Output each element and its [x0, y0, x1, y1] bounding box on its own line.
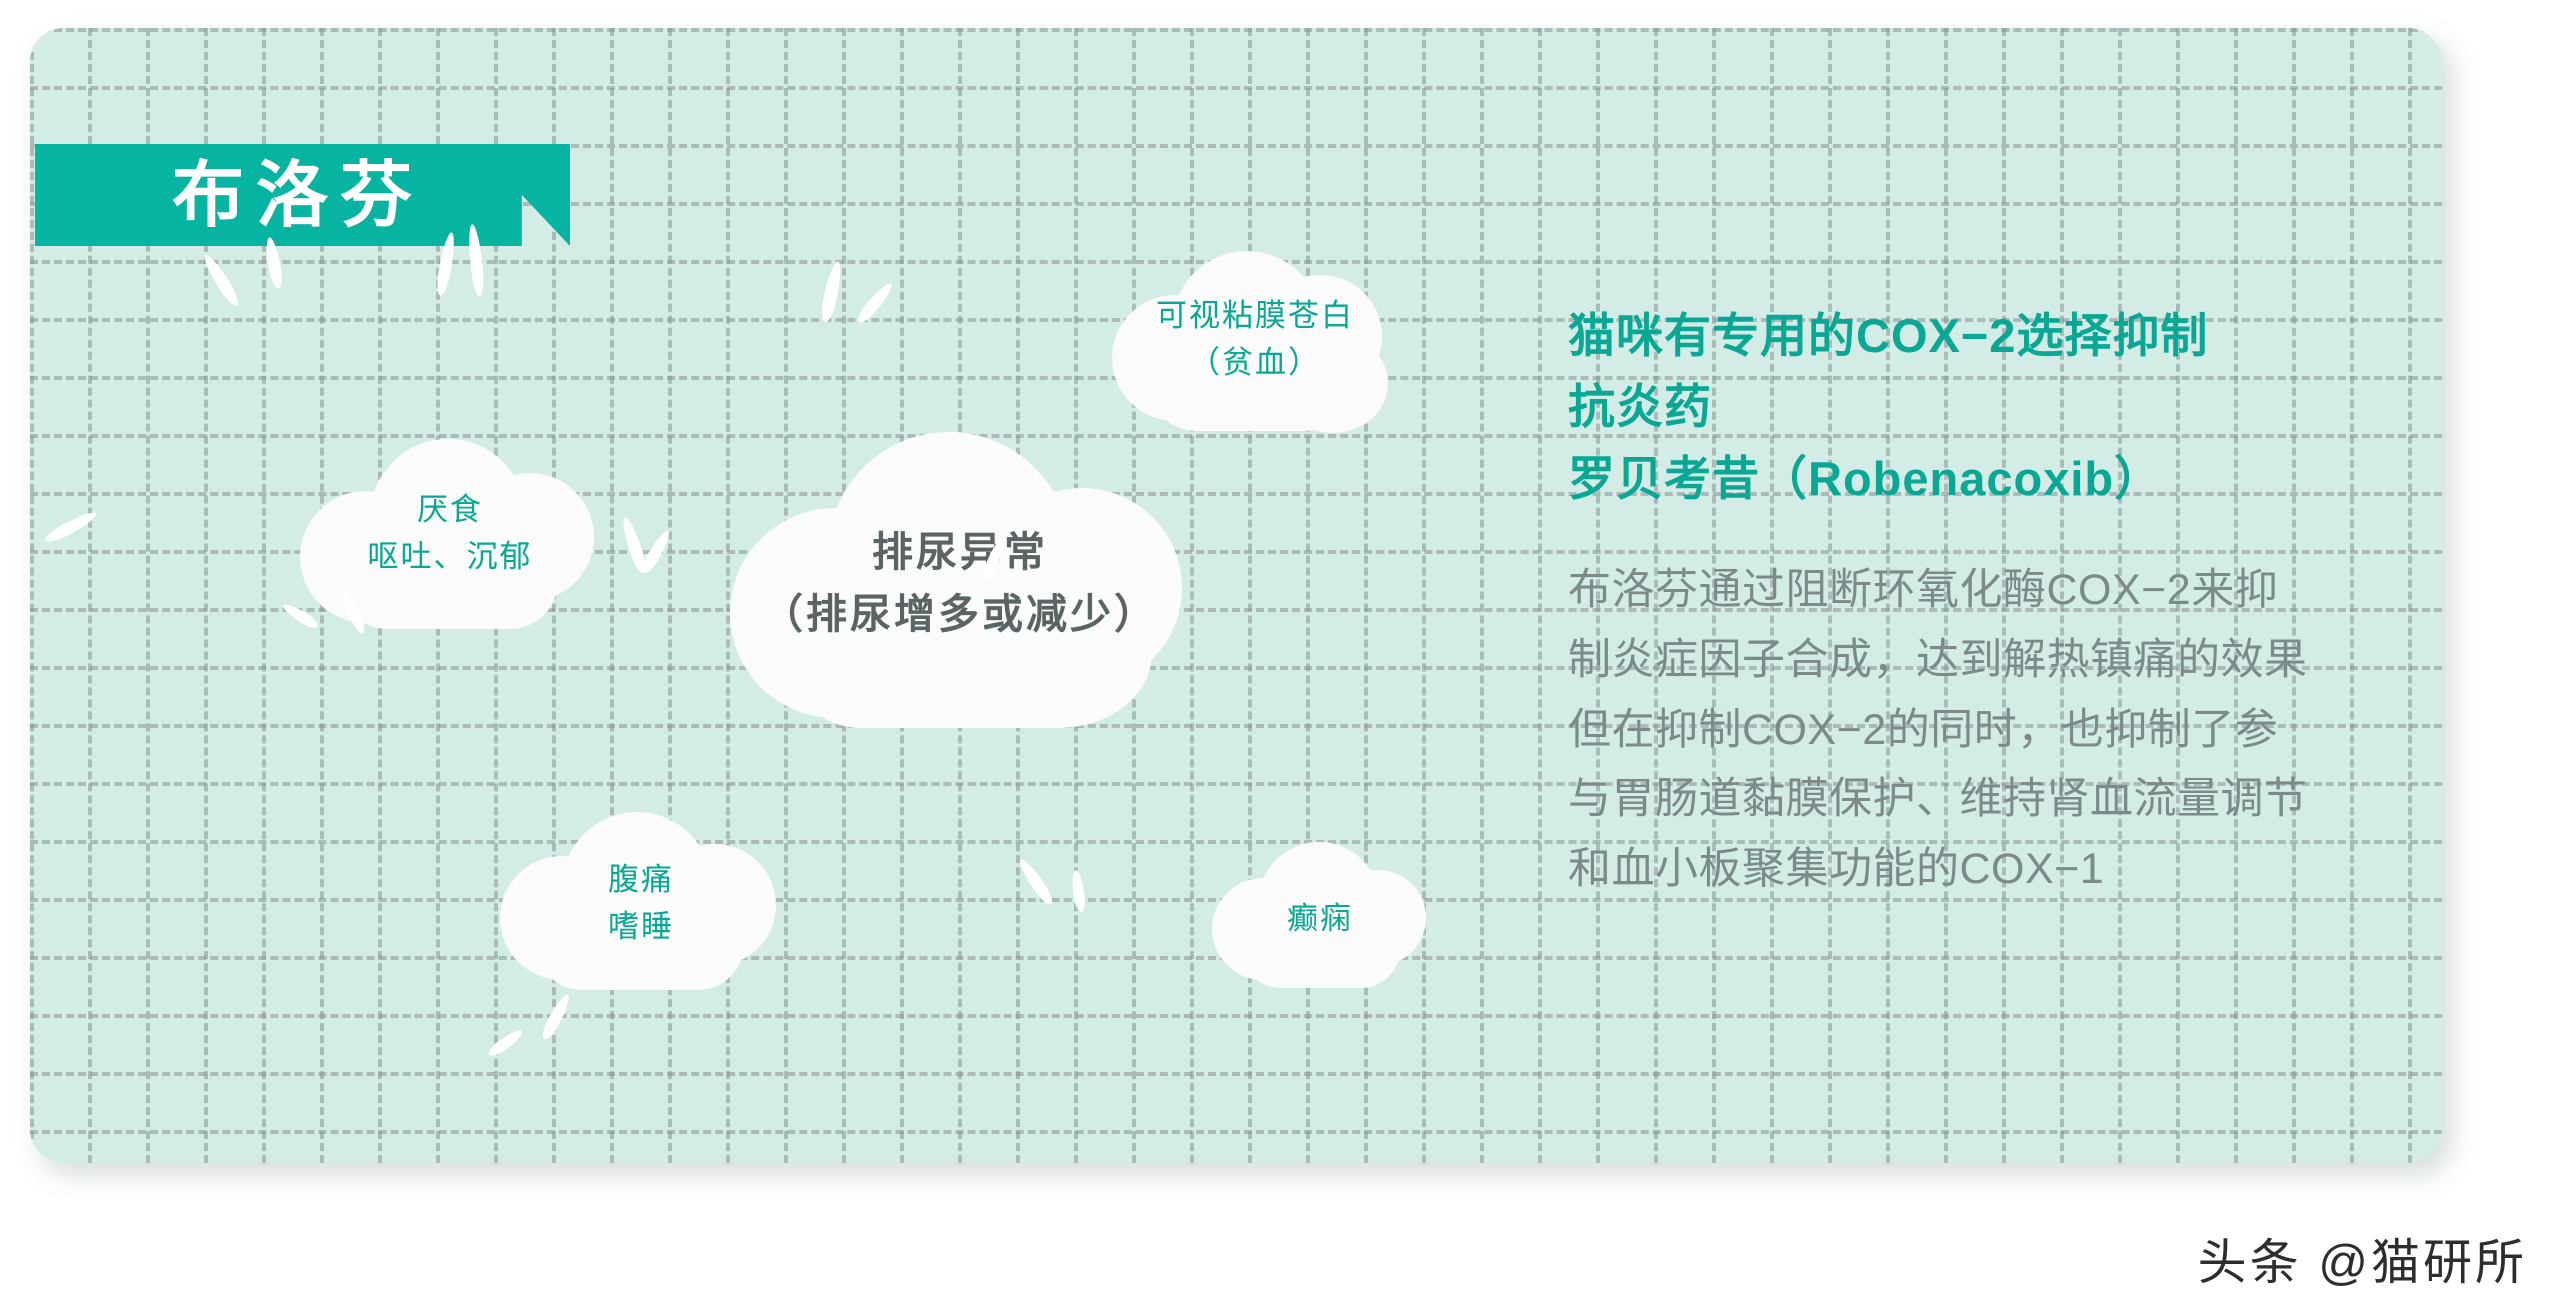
- cloud-label-line: 癫痫: [1287, 895, 1353, 942]
- sparkle-icon: [486, 1027, 525, 1059]
- cloud-label-line: 排尿异常: [872, 521, 1048, 583]
- grid-line-horizontal: [30, 1072, 2442, 1076]
- cloud-anemia: 可视粘膜苍白 （贫血）: [1110, 243, 1400, 435]
- body-line: 与胃肠道黏膜保护、维持肾血流量调节: [1568, 765, 2442, 835]
- body-paragraph: 布洛芬通过阻断环氧化酶COX−2来抑 制炎症因子合成，达到解热镇痛的效果 但在抑…: [1568, 556, 2442, 904]
- body-line: 和血小板聚集功能的COX−1: [1568, 835, 2442, 905]
- body-line: 制炎症因子合成，达到解热镇痛的效果: [1568, 626, 2442, 696]
- headline-line: 罗贝考昔（Robenacoxib）: [1568, 443, 2442, 514]
- cloud-label-line: 嗜睡: [608, 903, 674, 950]
- right-text-column: 猫咪有专用的COX−2选择抑制 抗炎药 罗贝考昔（Robenacoxib） 布洛…: [1568, 300, 2442, 905]
- grid-line-horizontal: [30, 28, 2442, 32]
- grid-line-vertical: [1190, 28, 1194, 1163]
- sparkle-icon: [819, 260, 845, 323]
- cloud-label-line: （贫血）: [1189, 339, 1321, 386]
- cloud-label-line: 呕吐、沉郁: [368, 533, 533, 580]
- cloud-label-line: （排尿增多或减少）: [762, 583, 1158, 645]
- cloud-seizure: 癫痫: [1212, 840, 1428, 998]
- cloud-label-line: 可视粘膜苍白: [1156, 292, 1354, 339]
- mint-card: 布洛芬 可视粘膜苍白 （贫: [30, 28, 2442, 1163]
- body-line: 但在抑制COX−2的同时，也抑制了参: [1568, 696, 2442, 766]
- grid-line-horizontal: [30, 86, 2442, 90]
- grid-line-horizontal: [30, 1130, 2442, 1134]
- cloud-urination: 排尿异常 （排尿增多或减少）: [730, 428, 1190, 738]
- grid-line-vertical: [1538, 28, 1542, 1163]
- grid-line-vertical: [1480, 28, 1484, 1163]
- headline-line: 抗炎药: [1568, 371, 2442, 442]
- headline-block: 猫咪有专用的COX−2选择抑制 抗炎药 罗贝考昔（Robenacoxib）: [1568, 300, 2442, 514]
- watermark: 头条 @猫研所: [2198, 1223, 2527, 1294]
- sparkle-icon: [1070, 869, 1087, 912]
- cloud-abdominal: 腹痛 嗜睡: [500, 808, 782, 998]
- infographic-root: 布洛芬 可视粘膜苍白 （贫: [0, 0, 2567, 1316]
- grid-line-vertical: [30, 28, 34, 1163]
- headline-line: 猫咪有专用的COX−2选择抑制: [1568, 300, 2442, 371]
- body-line: 布洛芬通过阻断环氧化酶COX−2来抑: [1568, 556, 2442, 626]
- grid-line-horizontal: [30, 1014, 2442, 1018]
- cloud-label-line: 腹痛: [608, 856, 674, 903]
- banner-flag: 布洛芬: [35, 144, 570, 246]
- cloud-label-line: 厌食: [417, 486, 483, 533]
- banner-title: 布洛芬: [172, 159, 424, 231]
